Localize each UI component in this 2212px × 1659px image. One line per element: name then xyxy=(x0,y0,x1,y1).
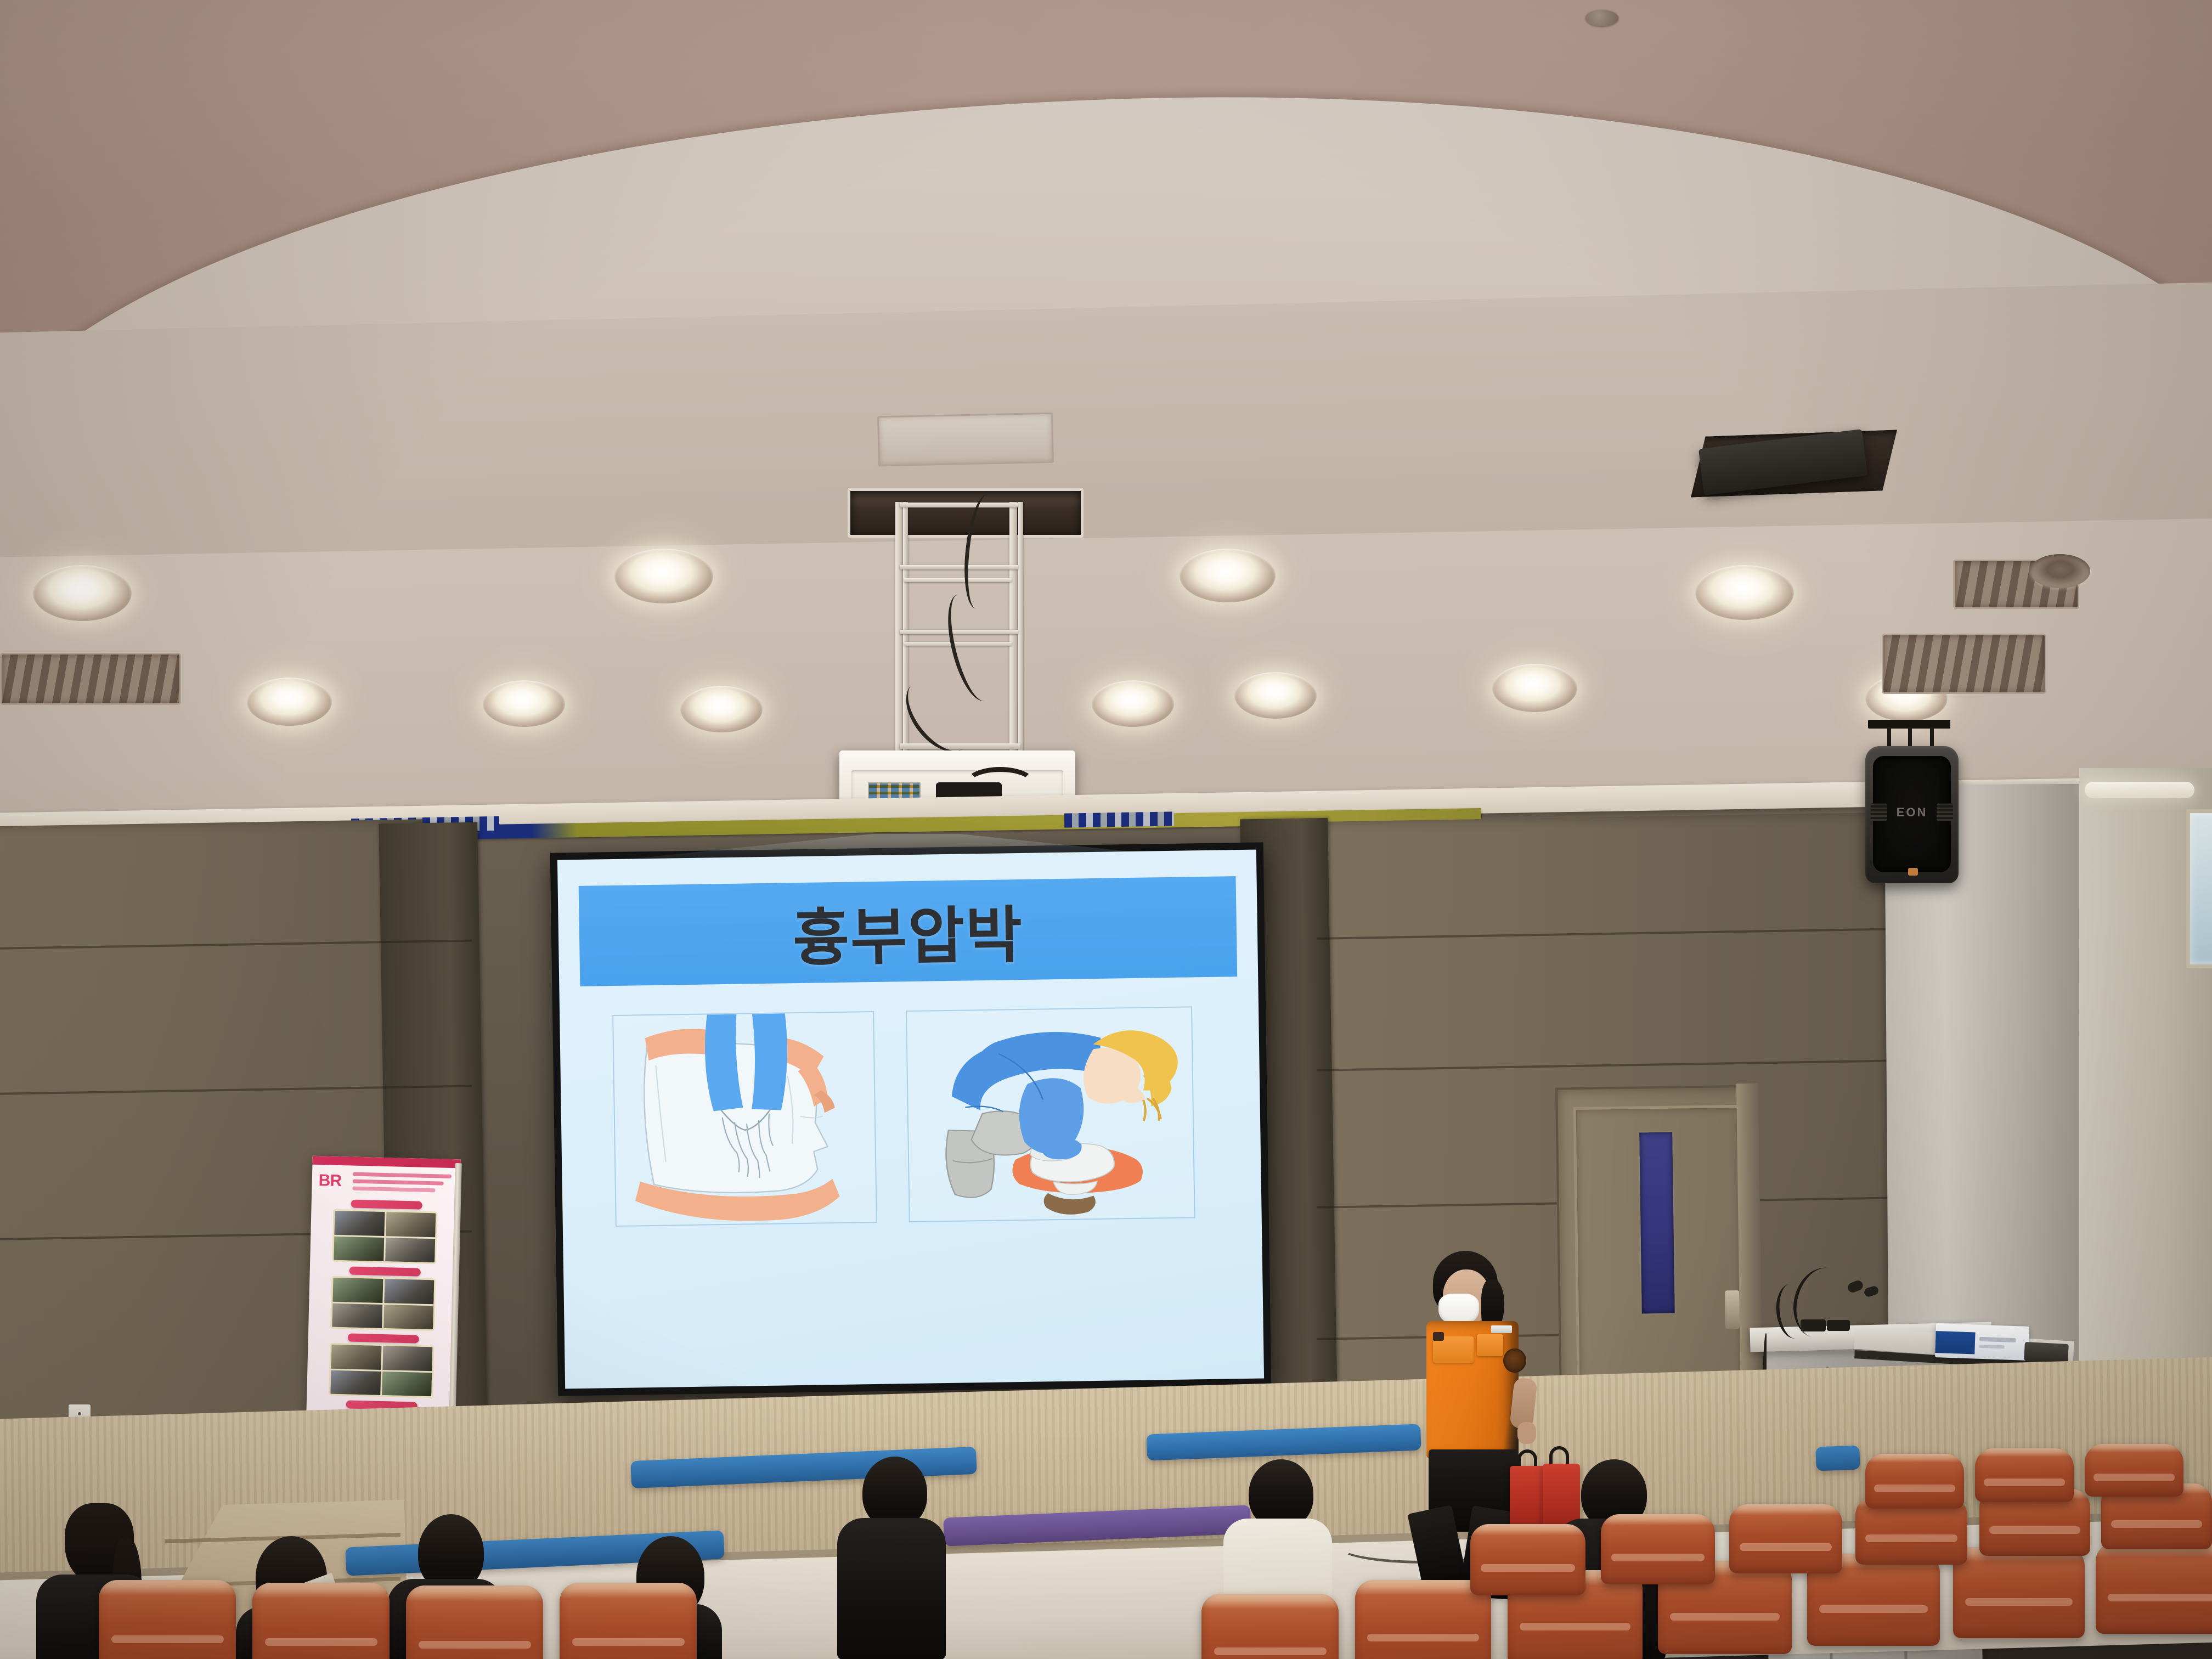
slide-title-bar: 흉부압박 xyxy=(579,876,1237,986)
exercise-mat xyxy=(1815,1446,1860,1471)
attendee-hair xyxy=(862,1457,927,1528)
downlight-icon xyxy=(1234,672,1317,719)
banner-photo xyxy=(332,1303,382,1328)
uniform-shoulder-patch xyxy=(1503,1348,1526,1373)
banner-section-bar xyxy=(351,1200,422,1210)
downlight-icon xyxy=(1492,664,1577,712)
slide-figure-rescuer-posture xyxy=(906,1007,1195,1222)
podium-misc-item xyxy=(2024,1342,2069,1363)
banner-logo: BR xyxy=(318,1171,341,1190)
speaker-brand-label: EON xyxy=(1865,805,1959,820)
banner-photo xyxy=(384,1279,435,1304)
banner-photo xyxy=(383,1305,434,1330)
banner-photo xyxy=(382,1346,433,1371)
attendee xyxy=(834,1457,949,1659)
banner-photo xyxy=(334,1211,385,1236)
hvac-vent-icon xyxy=(0,653,181,705)
lift-crossbar xyxy=(904,578,1012,582)
banner-photo-grid xyxy=(329,1343,434,1398)
banner-photo-grid xyxy=(332,1209,437,1265)
banner-headline-lines xyxy=(352,1172,452,1196)
banner-photo xyxy=(382,1372,432,1397)
auditorium-seat[interactable] xyxy=(2085,1444,2183,1497)
auditorium-seat[interactable] xyxy=(1355,1580,1491,1659)
microphone-base xyxy=(1801,1319,1826,1331)
podium-box-print xyxy=(1979,1345,2005,1349)
side-window xyxy=(2186,809,2212,968)
downlight-icon xyxy=(247,678,332,726)
lift-crossbar xyxy=(900,503,1018,507)
downlight-icon xyxy=(1695,565,1794,620)
speaker-chain xyxy=(1930,727,1934,749)
banner-section-bar xyxy=(348,1333,419,1343)
projection-screen-surface: 흉부압박 xyxy=(557,850,1264,1389)
banner-photo-grid xyxy=(330,1276,436,1331)
downlight-icon xyxy=(33,565,132,621)
banner-section-bar xyxy=(349,1266,421,1276)
auditorium-scene: EON 흉부압박 xyxy=(0,0,2212,1659)
downlight-icon xyxy=(614,549,713,603)
downlight-icon xyxy=(1092,680,1174,727)
lift-crossbar xyxy=(900,565,1018,569)
auditorium-seat[interactable] xyxy=(1470,1524,1585,1595)
auditorium-seat[interactable] xyxy=(1201,1594,1339,1659)
auditorium-seat[interactable] xyxy=(406,1585,543,1659)
speaker-led-icon xyxy=(1908,868,1918,876)
banner-header: BR xyxy=(318,1169,454,1199)
attendee-torso xyxy=(837,1518,946,1659)
auditorium-seat[interactable] xyxy=(1953,1547,2085,1638)
downlight-icon xyxy=(680,686,763,732)
auditorium-seat[interactable] xyxy=(560,1583,697,1659)
podium-box-print xyxy=(1979,1337,2016,1342)
banner-photo xyxy=(385,1238,436,1263)
banner-photo xyxy=(386,1212,436,1237)
ceiling-access-panel xyxy=(877,413,1054,467)
auditorium-seat[interactable] xyxy=(1729,1504,1842,1573)
banner-photo xyxy=(331,1345,381,1370)
uniform-epaulette xyxy=(1491,1325,1512,1333)
lift-post xyxy=(1018,502,1023,765)
instructor-hand xyxy=(1517,1422,1536,1444)
door-vision-panel xyxy=(1639,1132,1675,1314)
podium-supply-box[interactable] xyxy=(1935,1323,2029,1361)
wall-speaker: EON xyxy=(1865,746,1959,883)
hvac-vent-icon xyxy=(1882,634,2046,694)
ceiling-speaker-icon xyxy=(2030,554,2090,588)
wall-accent-stripe-dashes xyxy=(1064,811,1174,827)
banner-photo xyxy=(332,1278,383,1303)
downlight-icon xyxy=(1180,549,1276,602)
banner-photo xyxy=(334,1236,384,1261)
banner-photo xyxy=(330,1370,381,1395)
sprinkler-head-icon xyxy=(1585,10,1618,26)
uniform-rank-insignia xyxy=(1433,1332,1444,1341)
uniform-chest-pocket xyxy=(1477,1334,1503,1356)
projector-lift-ceiling-slot xyxy=(848,488,1084,538)
projection-screen[interactable]: 흉부압박 xyxy=(550,842,1272,1396)
door-handle-icon[interactable] xyxy=(1725,1290,1740,1329)
speaker-chain xyxy=(1887,727,1891,749)
slide-title: 흉부압박 xyxy=(792,885,1024,978)
wall-light-fixture xyxy=(2085,782,2194,798)
auditorium-seat[interactable] xyxy=(99,1580,236,1659)
microphone-base xyxy=(1827,1320,1850,1331)
auditorium-seat[interactable] xyxy=(2096,1543,2212,1634)
auditorium-seat[interactable] xyxy=(1601,1514,1715,1584)
slide-figure-hand-placement xyxy=(612,1011,877,1227)
downlight-icon xyxy=(483,680,565,727)
auditorium-seat[interactable] xyxy=(252,1583,390,1659)
auditorium-seat[interactable] xyxy=(1975,1448,2074,1502)
auditorium-seat[interactable] xyxy=(1865,1454,1964,1509)
podium-box-blue-band xyxy=(1935,1331,1975,1354)
